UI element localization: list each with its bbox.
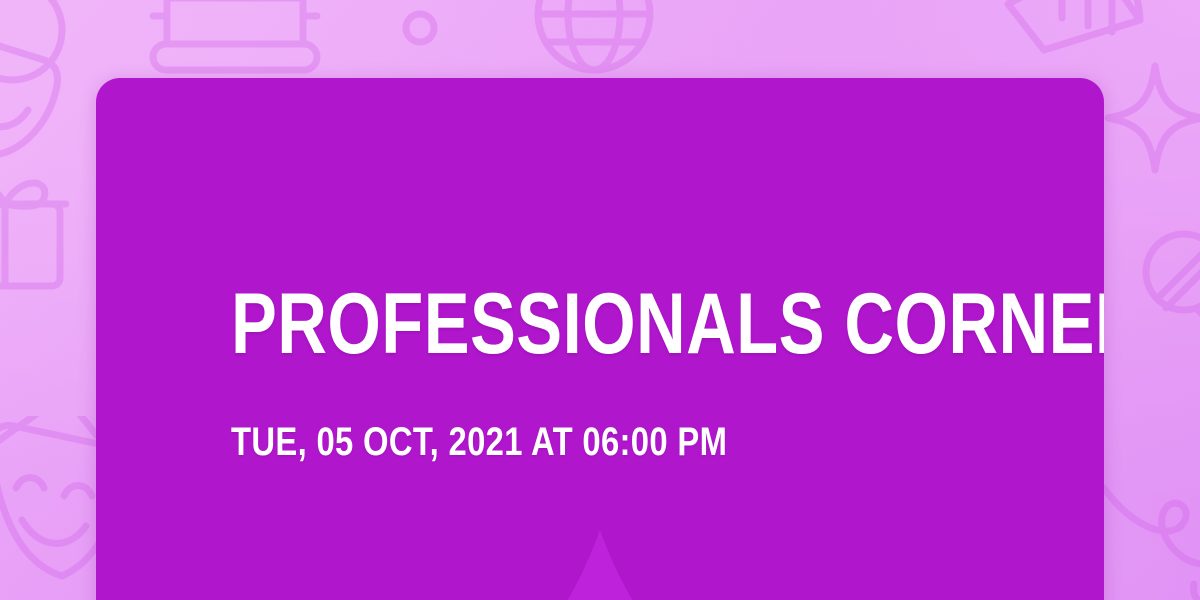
microphone-icon — [1140, 228, 1200, 378]
sparkle-icon — [1100, 58, 1200, 178]
event-title: Professionals Corner — [231, 281, 1104, 367]
gift-icon — [0, 150, 78, 300]
circle-icon — [400, 8, 440, 48]
event-card: Professionals Corner Tue, 05 Oct, 2021 a… — [96, 78, 1104, 600]
event-banner: Professionals Corner Tue, 05 Oct, 2021 a… — [0, 0, 1200, 600]
confetti-popper-icon — [1000, 0, 1190, 86]
card-content: Professionals Corner Tue, 05 Oct, 2021 a… — [96, 78, 1104, 600]
streamer-ribbon-icon — [1098, 470, 1200, 600]
event-date: Tue, 05 Oct, 2021 at 06:00 PM — [231, 422, 727, 462]
theater-mask-icon — [0, 20, 74, 160]
circle-icon — [0, 0, 72, 90]
